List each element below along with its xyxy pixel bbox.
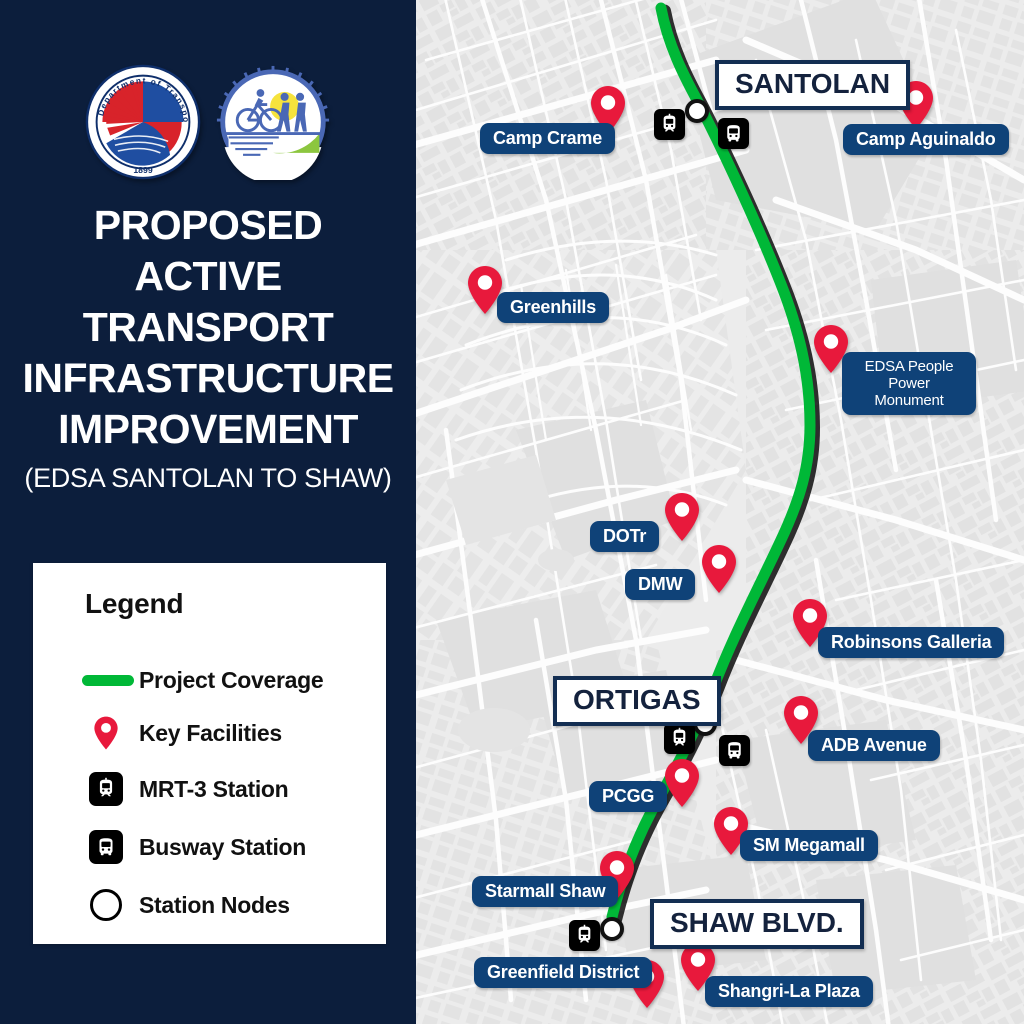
station-node-santolan[interactable] bbox=[685, 99, 709, 123]
legend-label-mrt3-station: MRT-3 Station bbox=[139, 776, 288, 803]
dotr-seal-logo: 1899 Department of Transportation bbox=[85, 64, 201, 180]
bus-icon-santolan[interactable] bbox=[718, 118, 749, 149]
label-camp-aguinaldo[interactable]: Camp Aguinaldo bbox=[843, 124, 1009, 155]
label-sm-megamall[interactable]: SM Megamall bbox=[740, 830, 878, 861]
pin-dotr[interactable] bbox=[663, 492, 701, 542]
train-icon bbox=[73, 772, 139, 806]
label-dmw[interactable]: DMW bbox=[625, 569, 695, 600]
label-starmall-shaw[interactable]: Starmall Shaw bbox=[472, 876, 618, 907]
legend-title: Legend bbox=[85, 588, 183, 620]
agency-logos: 1899 Department of Transportation bbox=[0, 62, 416, 182]
title-line-3: TRANSPORT bbox=[0, 302, 416, 353]
legend-item-station-nodes: Station Nodes bbox=[73, 882, 373, 928]
map-pin-icon bbox=[73, 715, 139, 751]
label-robinsons-galleria[interactable]: Robinsons Galleria bbox=[818, 627, 1004, 658]
dotr-seal-year: 1899 bbox=[133, 165, 152, 175]
legend-item-busway-station: Busway Station bbox=[73, 824, 373, 870]
bus-icon-ortigas[interactable] bbox=[719, 735, 750, 766]
legend-item-key-facilities: Key Facilities bbox=[73, 710, 373, 756]
label-adb-avenue[interactable]: ADB Avenue bbox=[808, 730, 940, 761]
legend-label-station-nodes: Station Nodes bbox=[139, 892, 290, 919]
legend-item-project-coverage: Project Coverage bbox=[73, 657, 373, 703]
title-line-2: ACTIVE bbox=[0, 251, 416, 302]
label-shangri-la-plaza[interactable]: Shangri-La Plaza bbox=[705, 976, 873, 1007]
infographic-root: 1899 Department of Transportation bbox=[0, 0, 1024, 1024]
label-camp-crame[interactable]: Camp Crame bbox=[480, 123, 615, 154]
legend-label-project-coverage: Project Coverage bbox=[139, 667, 323, 694]
label-edsa-people-power-monument[interactable]: EDSA People Power Monument bbox=[842, 352, 976, 415]
subtitle: (EDSA SANTOLAN TO SHAW) bbox=[0, 461, 416, 495]
circle-node-icon bbox=[73, 889, 139, 921]
station-box-santolan[interactable]: SANTOLAN bbox=[715, 60, 910, 110]
legend-label-busway-station: Busway Station bbox=[139, 834, 306, 861]
left-panel: 1899 Department of Transportation bbox=[0, 0, 416, 1024]
title-line-4: INFRASTRUCTURE bbox=[0, 353, 416, 404]
legend-item-mrt3-station: MRT-3 Station bbox=[73, 766, 373, 812]
label-greenhills[interactable]: Greenhills bbox=[497, 292, 609, 323]
train-icon-santolan[interactable] bbox=[654, 109, 685, 140]
pin-dmw[interactable] bbox=[700, 544, 738, 594]
station-node-shaw-blvd[interactable] bbox=[600, 917, 624, 941]
label-dotr[interactable]: DOTr bbox=[590, 521, 659, 552]
label-pcgg[interactable]: PCGG bbox=[589, 781, 667, 812]
route-line-icon bbox=[73, 675, 139, 686]
train-icon-shaw-blvd[interactable] bbox=[569, 920, 600, 951]
station-box-ortigas[interactable]: ORTIGAS bbox=[553, 676, 721, 726]
title-block: PROPOSED ACTIVE TRANSPORT INFRASTRUCTURE… bbox=[0, 200, 416, 495]
train-icon-ortigas[interactable] bbox=[664, 723, 695, 754]
pin-pcgg[interactable] bbox=[663, 758, 701, 808]
legend-panel: Legend Project Coverage Key Faciliti bbox=[33, 563, 386, 944]
bus-icon bbox=[73, 830, 139, 864]
title-line-5: IMPROVEMENT bbox=[0, 404, 416, 455]
active-transport-seal-logo bbox=[215, 64, 331, 180]
label-greenfield-district[interactable]: Greenfield District bbox=[474, 957, 652, 988]
legend-label-key-facilities: Key Facilities bbox=[139, 720, 282, 747]
map-canvas[interactable]: SANTOLAN ORTIGAS SHAW BLVD. Camp Crame C… bbox=[416, 0, 1024, 1024]
station-box-shaw-blvd[interactable]: SHAW BLVD. bbox=[650, 899, 864, 949]
title-line-1: PROPOSED bbox=[0, 200, 416, 251]
